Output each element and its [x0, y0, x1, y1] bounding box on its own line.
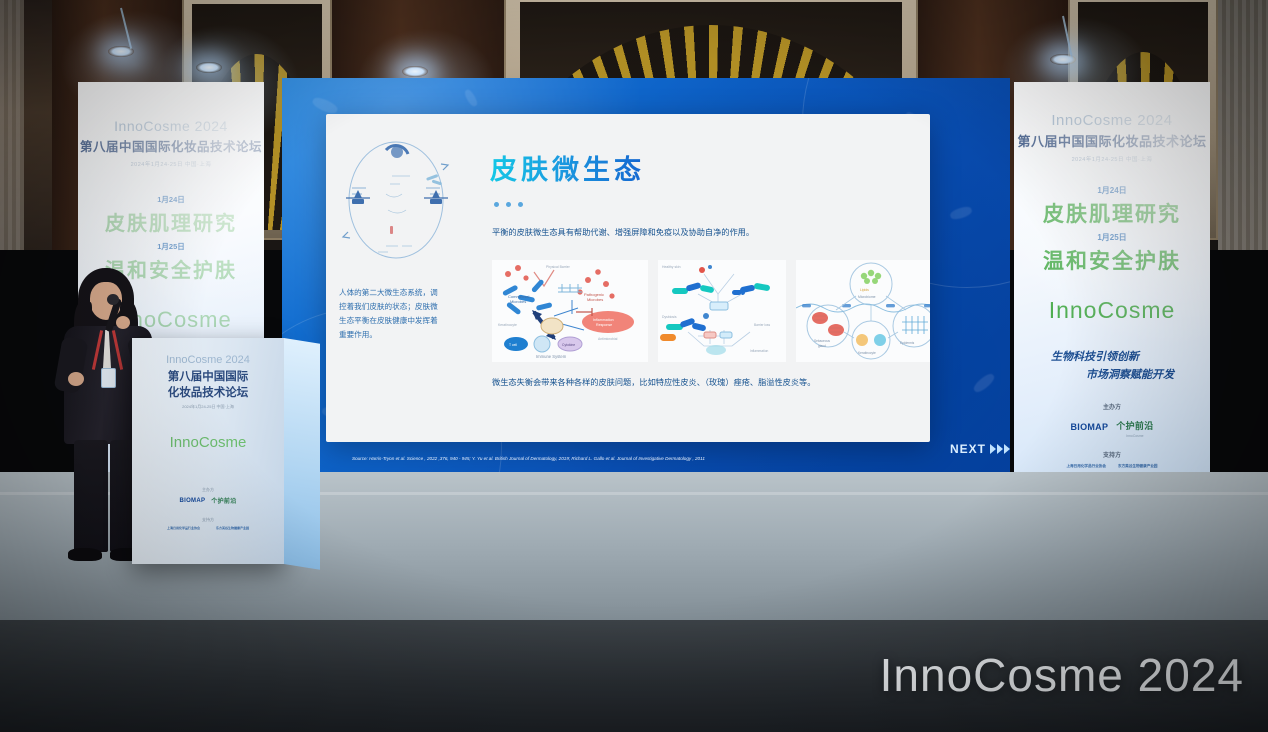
- slide-source-citation: Source: Harris-Tryon et al. Science , 20…: [352, 456, 705, 461]
- presentation-screen: 人体的第二大微生态系统，调控着我们皮肤的状态；皮肤微生态平衡在皮肤健康中发挥着重…: [282, 78, 1010, 490]
- banner-right-day1-label: 1月24日: [1014, 185, 1210, 196]
- svg-text:Microbes: Microbes: [510, 299, 526, 304]
- skin-cycle-diagram: [340, 136, 452, 264]
- stage-light: [1050, 54, 1076, 65]
- conference-stage-photo: InnoCosme 2024 第八届中国国际化妆品技术论坛 2024年1月24-…: [0, 0, 1268, 732]
- svg-text:Antimicrobial: Antimicrobial: [598, 337, 618, 341]
- podium-biomap-logo: BIOMAP: [179, 498, 205, 504]
- podium-logo: InnoCosme: [142, 434, 274, 451]
- banner-right-logo: InnoCosme: [1014, 297, 1210, 324]
- podium-supporter-logos: 上海日用化学品行业协会 东方美谷生物健康产业园: [142, 526, 274, 530]
- podium-ihuqianyan-logo: 个护前沿: [211, 496, 236, 505]
- banner-right-title-cn: 第八届中国国际化妆品技术论坛: [1014, 131, 1210, 150]
- title-dots: [494, 202, 523, 207]
- slide-card: 人体的第二大微生态系统，调控着我们皮肤的状态；皮肤微生态平衡在皮肤健康中发挥着重…: [326, 114, 930, 442]
- svg-text:Inflammation: Inflammation: [593, 318, 614, 322]
- svg-text:Microbes: Microbes: [587, 297, 603, 302]
- banner-script-line-2: 市场洞察赋能开发: [1014, 366, 1210, 382]
- speaker-hand-left: [68, 372, 84, 386]
- svg-text:gland: gland: [818, 344, 826, 348]
- podium-side-panel: [284, 338, 320, 570]
- svg-text:Response: Response: [596, 323, 612, 327]
- banner-left-date: 2024年1月24-25日 中国·上海: [78, 160, 264, 168]
- svg-text:Keratinocyte: Keratinocyte: [858, 351, 876, 355]
- svg-text:Lipids: Lipids: [860, 288, 869, 292]
- svg-text:Keratinocyte: Keratinocyte: [498, 323, 517, 327]
- podium-date: 2024年1月24-25日 中国·上海: [142, 404, 274, 410]
- supporter-logos: 上海日用化学品行业协会 东方美谷生物健康产业园: [1014, 464, 1210, 469]
- banner-left-day2-label: 1月25日: [78, 241, 264, 252]
- chevron-right-icon: [990, 444, 1010, 454]
- supporter-logo-2: 东方美谷生物健康产业园: [1118, 464, 1158, 469]
- figure-microbe-signaling: Healthy skin: [658, 260, 786, 362]
- svg-text:Sebaceous: Sebaceous: [814, 339, 830, 343]
- podium-supporter-label: 支持方: [142, 517, 274, 523]
- speaker-hand-right: [116, 316, 130, 329]
- next-button[interactable]: NEXT: [950, 442, 1010, 456]
- biomap-logo: BIOMAP: [1070, 422, 1108, 432]
- banner-left-title-en: InnoCosme 2024: [78, 118, 264, 134]
- banner-left-day1-topic: 皮肤肌理研究: [78, 207, 264, 236]
- svg-text:Epidermis: Epidermis: [900, 341, 915, 345]
- figure-immune-microbiome: Physical Barrier Commensal Microbes Path…: [492, 260, 648, 362]
- banner-right-day2-topic: 温和安全护肤: [1014, 245, 1210, 275]
- banner-right: InnoCosme 2024 第八届中国国际化妆品技术论坛 2024年1月24-…: [1014, 82, 1210, 480]
- speaker-badge: [101, 368, 116, 388]
- svg-text:Cytokine: Cytokine: [562, 343, 575, 347]
- podium-title-cn-2: 化妆品技术论坛: [142, 384, 274, 400]
- banner-right-day1-topic: 皮肤肌理研究: [1014, 198, 1210, 228]
- podium-supporter-logo-2: 东方美谷生物健康产业园: [216, 526, 249, 530]
- speaker-leg-left: [74, 440, 108, 552]
- watermark-innocosme: InnoCosme 2024: [880, 648, 1244, 702]
- organizer-label: 主办方: [1014, 402, 1210, 411]
- slide-sidebar-text: 人体的第二大微生态系统，调控着我们皮肤的状态；皮肤微生态平衡在皮肤健康中发挥着重…: [339, 286, 445, 342]
- speaker-shoe-left: [68, 548, 102, 561]
- figure-row: Physical Barrier Commensal Microbes Path…: [492, 260, 930, 362]
- banner-right-day2-label: 1月25日: [1014, 232, 1210, 243]
- supporter-label: 支持方: [1014, 450, 1210, 459]
- stage-light: [196, 62, 222, 73]
- slide-paragraph-2: 微生态失衡会带来各种各样的皮肤问题，比如特应性皮炎、（玫瑰）痤疮、脂溢性皮炎等。: [492, 376, 916, 390]
- svg-text:Immune System: Immune System: [536, 354, 567, 359]
- svg-text:Microbiome: Microbiome: [858, 295, 876, 299]
- banner-right-title-en: InnoCosme 2024: [1014, 112, 1210, 129]
- ihuqianyan-logo: 个护前沿: [1116, 421, 1153, 431]
- banner-left-title-cn: 第八届中国国际化妆品技术论坛: [78, 136, 264, 155]
- podium-lectern: InnoCosme 2024 第八届中国国际 化妆品技术论坛 2024年1月24…: [132, 338, 284, 564]
- microphone-head: [107, 294, 119, 305]
- supporter-logo-1: 上海日用化学品行业协会: [1066, 464, 1106, 469]
- svg-text:Dysbiosis: Dysbiosis: [662, 315, 677, 319]
- podium-title-cn-1: 第八届中国国际: [142, 368, 274, 384]
- svg-text:Healthy skin: Healthy skin: [662, 265, 681, 269]
- slide-sidebar: 人体的第二大微生态系统，调控着我们皮肤的状态；皮肤微生态平衡在皮肤健康中发挥着重…: [326, 114, 456, 442]
- svg-text:T cell: T cell: [509, 343, 517, 347]
- ihuqianyan-logo-sub: InnoCosme: [1116, 434, 1153, 438]
- figure-microbiome-network: Lipids Microbiome Sebaceous gland: [796, 260, 930, 362]
- banner-right-date: 2024年1月24-25日 中国·上海: [1014, 155, 1210, 163]
- svg-text:Barrier loss: Barrier loss: [754, 323, 771, 327]
- svg-text:Inflammation: Inflammation: [750, 349, 768, 353]
- podium-organizer-label: 主办方: [142, 487, 274, 493]
- stage-light: [402, 66, 428, 77]
- banner-script-line-1: 生物科技引领创新: [1014, 348, 1210, 364]
- slide-paragraph-1: 平衡的皮肤微生态具有帮助代谢、增强屏障和免疫以及协助自净的作用。: [492, 226, 916, 240]
- podium-title-en: InnoCosme 2024: [142, 354, 274, 366]
- svg-text:Physical Barrier: Physical Barrier: [546, 265, 571, 269]
- next-label: NEXT: [950, 442, 986, 456]
- stage-light: [108, 46, 134, 57]
- slide-title: 皮肤微生态: [490, 148, 645, 187]
- podium-supporter-logo-1: 上海日用化学品行业协会: [167, 526, 200, 530]
- banner-left-day1-label: 1月24日: [78, 194, 264, 205]
- organizer-logos: BIOMAP 个护前沿 InnoCosme: [1014, 416, 1210, 438]
- podium-organizer-logos: BIOMAP 个护前沿: [142, 496, 274, 505]
